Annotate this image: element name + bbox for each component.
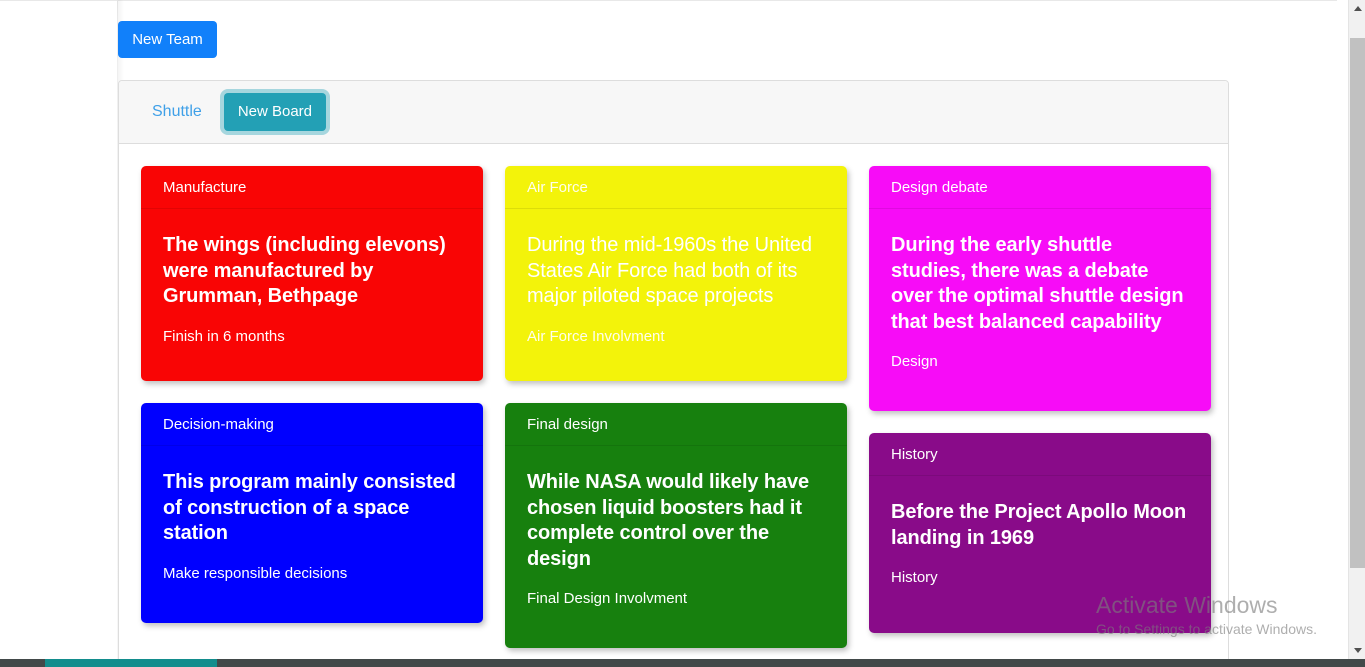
team-panel-header: Shuttle New Board [119, 81, 1228, 144]
card-header: Air Force [505, 166, 847, 209]
card-footer: Design [869, 347, 1211, 370]
board-card[interactable]: Manufacture The wings (including elevons… [141, 166, 483, 381]
card-spacer [505, 607, 847, 648]
team-name-link[interactable]: Shuttle [152, 103, 202, 121]
board-card[interactable]: Design debate During the early shuttle s… [869, 166, 1211, 411]
card-header: History [869, 433, 1211, 476]
scroll-down-arrow-icon[interactable] [1349, 642, 1365, 659]
card-footer: Finish in 6 months [141, 322, 483, 345]
card-footer: Make responsible decisions [141, 559, 483, 582]
new-team-button[interactable]: New Team [118, 21, 217, 58]
card-footer: History [869, 563, 1211, 586]
horizontal-scrollbar[interactable] [0, 659, 1365, 667]
board-column-3: Design debate During the early shuttle s… [869, 166, 1211, 633]
card-body: During the mid-1960s the United States A… [505, 209, 847, 322]
card-footer: Air Force Involvment [505, 322, 847, 345]
board-card[interactable]: Decision-making This program mainly cons… [141, 403, 483, 623]
app-root: New Team Shuttle New Board Manufacture T… [0, 0, 1365, 667]
board-columns: Manufacture The wings (including elevons… [141, 166, 1228, 648]
horizontal-scrollbar-thumb[interactable] [45, 659, 217, 667]
card-spacer [869, 370, 1211, 411]
new-board-button[interactable]: New Board [224, 93, 326, 131]
card-header: Final design [505, 403, 847, 446]
card-body: Before the Project Apollo Moon landing i… [869, 476, 1211, 563]
card-body: The wings (including elevons) were manuf… [141, 209, 483, 322]
board-card[interactable]: Final design While NASA would likely hav… [505, 403, 847, 648]
vertical-scrollbar-thumb[interactable] [1350, 38, 1365, 568]
card-header: Decision-making [141, 403, 483, 446]
board-area: Manufacture The wings (including elevons… [119, 144, 1228, 648]
card-header: Design debate [869, 166, 1211, 209]
vertical-scrollbar[interactable] [1348, 0, 1365, 659]
card-spacer [505, 345, 847, 381]
card-footer: Final Design Involvment [505, 584, 847, 607]
board-card[interactable]: Air Force During the mid-1960s the Unite… [505, 166, 847, 381]
card-header: Manufacture [141, 166, 483, 209]
scroll-up-arrow-icon[interactable] [1349, 0, 1365, 17]
top-hairline [0, 0, 1337, 1]
card-spacer [869, 586, 1211, 633]
team-panel: Shuttle New Board Manufacture The wings … [118, 80, 1229, 667]
card-body: This program mainly consisted of constru… [141, 446, 483, 559]
board-column-2: Air Force During the mid-1960s the Unite… [505, 166, 847, 648]
card-body: During the early shuttle studies, there … [869, 209, 1211, 347]
card-body: While NASA would likely have chosen liqu… [505, 446, 847, 584]
board-column-1: Manufacture The wings (including elevons… [141, 166, 483, 623]
card-spacer [141, 345, 483, 381]
board-card[interactable]: History Before the Project Apollo Moon l… [869, 433, 1211, 633]
card-spacer [141, 582, 483, 623]
